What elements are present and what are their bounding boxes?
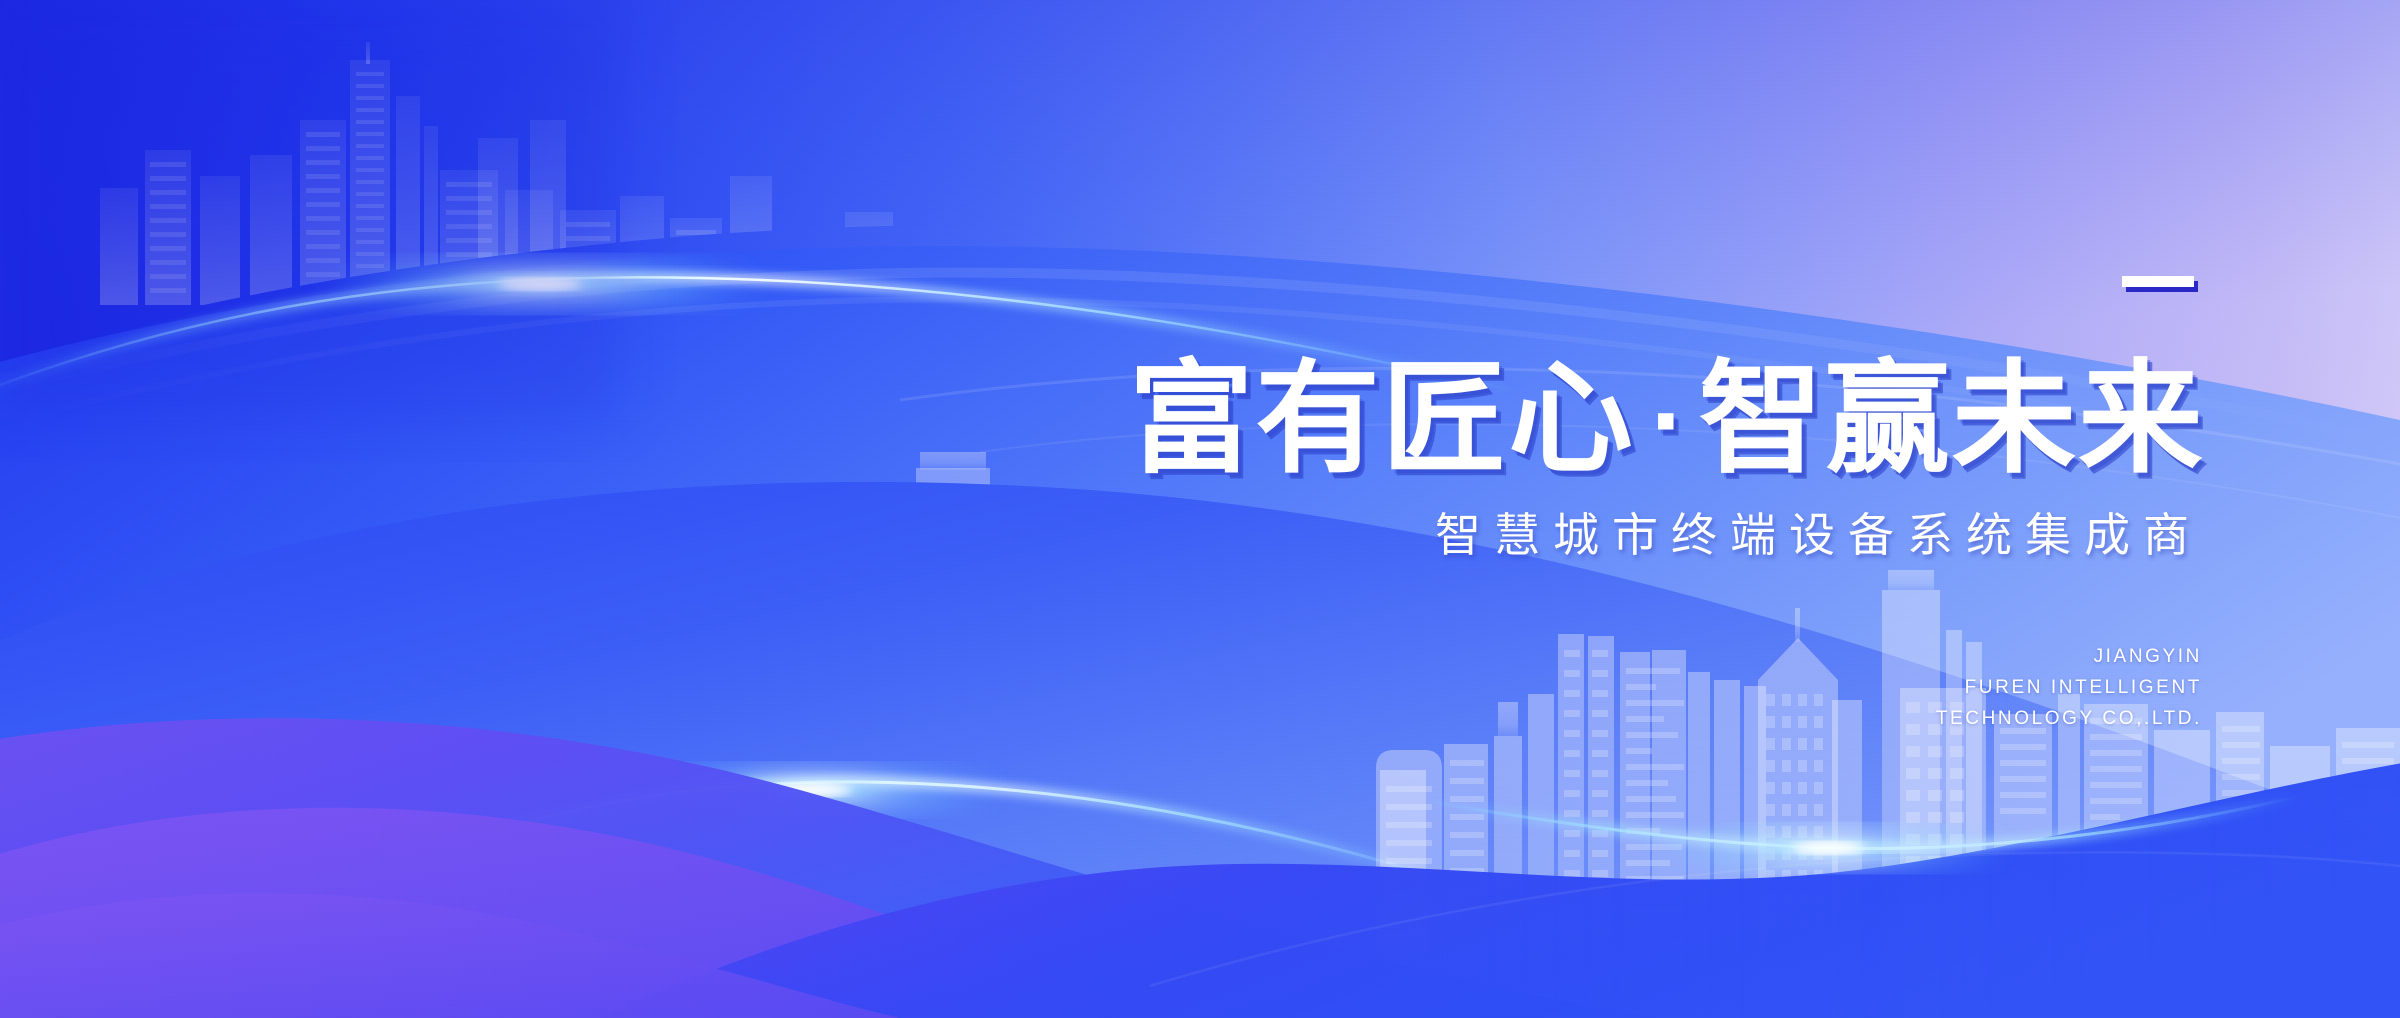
headline-part-left: 富有匠心 bbox=[1129, 348, 1635, 490]
poster-canvas: 富有匠心·智赢未来 智慧城市终端设备系统集成商 JIANGYIN FUREN I… bbox=[0, 0, 2400, 1018]
accent-dash-icon bbox=[2122, 276, 2194, 287]
company-line-3: TECHNOLOGY CO,.LTD. bbox=[1936, 704, 2202, 735]
page-subtitle: 智慧城市终端设备系统集成商 bbox=[1422, 512, 2202, 558]
company-name-block: JIANGYIN FUREN INTELLIGENT TECHNOLOGY CO… bbox=[1936, 642, 2202, 734]
page-title: 富有匠心·智赢未来 bbox=[1129, 358, 2205, 480]
company-line-1: JIANGYIN bbox=[1936, 642, 2202, 673]
headline-separator: · bbox=[1635, 372, 1699, 472]
headline-part-right: 智赢未来 bbox=[1699, 348, 2205, 490]
company-line-2: FUREN INTELLIGENT bbox=[1936, 673, 2202, 704]
